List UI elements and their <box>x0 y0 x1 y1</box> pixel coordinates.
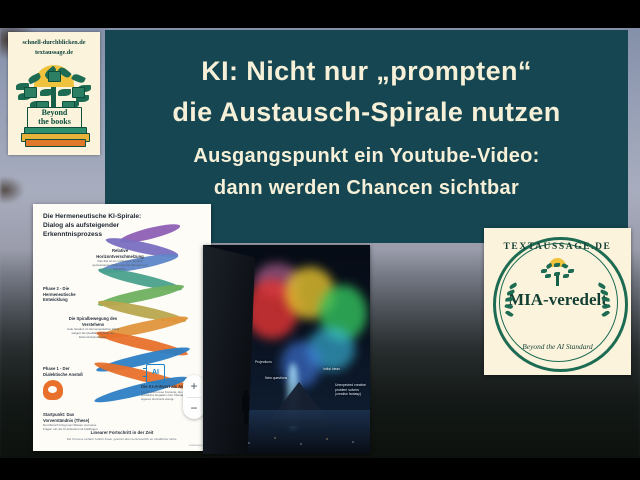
label-body: Jede Iteration im hermeneutischen Zirkel… <box>63 328 123 339</box>
infographic-label-startpunkt: Startpunkt: Das Vorverständnis (These) D… <box>43 412 105 432</box>
brand-plaque: Beyond the books <box>27 107 82 128</box>
seal-bottom-text: Beyond the AI Standard <box>484 342 631 351</box>
book-icon-bottom <box>25 139 86 147</box>
infographic-label-phase-1: Phase 1 - Der Dialektische Anstoß <box>43 366 95 377</box>
label-body: Das Ziel ist ein vorläufiges, fundiert g… <box>91 260 149 271</box>
zoom-divider <box>187 397 201 398</box>
brain-head-icon <box>43 380 63 400</box>
infographic-heading-1: Die Hermeneutische KI-Spirale: <box>43 212 153 221</box>
zoom-in-button[interactable]: + <box>183 375 205 397</box>
label-title: Phase 2 - Die Hermeneutische Entwicklung <box>43 286 95 303</box>
brand-logo-card: schnell-durchblicken.de textaussage.de <box>8 32 100 155</box>
title-line-1: KI: Nicht nur „prompten“ <box>105 56 628 87</box>
infographic-footer: Linearer Fortschritt in der Zeit Der Pro… <box>33 430 211 441</box>
zoom-out-button[interactable]: − <box>183 397 205 419</box>
infographic-label-horizontverschmelzung: Relative Horizontverschmelzung Das Ziel … <box>91 248 149 272</box>
artwork-label-projections: Projections <box>255 360 272 365</box>
seal-tree-icon <box>541 258 574 288</box>
brand-url-2: textaussage.de <box>8 48 100 58</box>
seal-top-text: TEXTAUSSAGE.DE <box>484 242 631 252</box>
infographic-label-spiralbewegung: Die Spiralbewegung des Verstehens Jede I… <box>63 316 123 340</box>
title-line-2: die Austausch-Spirale nutzen <box>105 97 628 128</box>
label-title: Phase 1 - Der Dialektische Anstoß <box>43 366 95 377</box>
label-title: Startpunkt: Das Vorverständnis (These) <box>43 412 105 423</box>
subtitle-line-1: Ausgangspunkt ein Youtube-Video: <box>105 144 628 168</box>
tree-of-knowledge-icon: Beyond the books <box>8 57 100 149</box>
plaque-line-2: the books <box>38 117 71 126</box>
label-title: Relative Horizontverschmelzung <box>91 248 149 259</box>
video-thumbnail: KI: Nicht nur „prompten“ die Austausch-S… <box>0 0 640 480</box>
footer-title: Linearer Fortschritt in der Zeit <box>33 430 211 435</box>
label-title: Die Spiralbewegung des Verstehens <box>63 316 123 327</box>
footer-body: Der Prozess verläuft zeitlich linear, ge… <box>33 437 211 441</box>
ai-chip-icon: AI <box>146 364 165 383</box>
infographic-label-phase-2: Phase 2 - Die Hermeneutische Entwicklung <box>43 286 95 303</box>
artwork-label-unexpected-creative: Unexpected creative problem solvers (cre… <box>335 383 370 397</box>
artwork-label-initial-ideas: Initial ideas <box>323 367 340 372</box>
brand-urls: schnell-durchblicken.de textaussage.de <box>8 32 100 57</box>
plaque-line-1: Beyond <box>42 108 68 117</box>
brand-url-1: schnell-durchblicken.de <box>8 38 100 48</box>
artwork-label-new-questions: New questions <box>265 376 287 381</box>
brain-artwork-image[interactable]: Projections New questions Initial ideas … <box>203 245 370 454</box>
infographic-document[interactable]: Die Hermeneutische KI-Spirale: Dialog al… <box>33 204 211 451</box>
subtitle-line-2: dann werden Chancen sichtbar <box>105 176 628 200</box>
silhouette-figure <box>241 390 250 424</box>
headline-text-block: KI: Nicht nur „prompten“ die Austausch-S… <box>105 34 628 200</box>
quality-seal-card: TEXTAUSSAGE.DE MIA-veredelt <box>484 228 631 375</box>
letterbox-top <box>0 0 640 28</box>
zoom-controls[interactable]: + − <box>183 375 205 419</box>
letterbox-bottom <box>0 458 640 480</box>
